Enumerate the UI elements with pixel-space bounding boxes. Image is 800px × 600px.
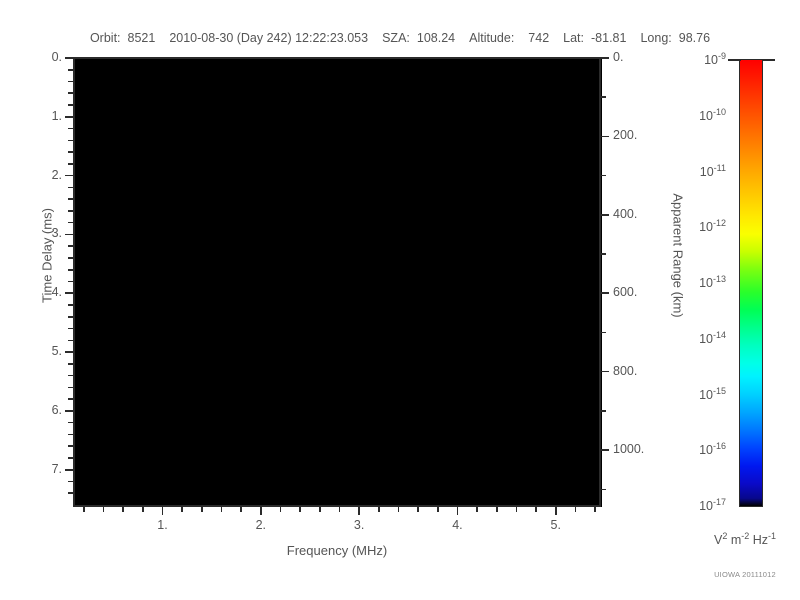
ionogram-heatmap xyxy=(75,59,601,506)
x-tick-minor xyxy=(476,507,478,512)
y-right-tick-minor xyxy=(600,489,606,491)
sza-value: 108.24 xyxy=(417,31,455,45)
datetime-value: 2010-08-30 (Day 242) 12:22:23.053 xyxy=(169,31,368,45)
y-tick-minor xyxy=(68,387,74,389)
y-right-tick-label: 400. xyxy=(613,207,663,221)
y-tick-minor xyxy=(68,434,74,436)
y-axis-right-line xyxy=(599,57,601,507)
x-tick-minor xyxy=(299,507,301,512)
y-right-tick-label: 1000. xyxy=(613,442,663,456)
y-axis-left-title: Time Delay (ms) xyxy=(40,166,55,346)
colorbar-tick-label: 10-13 xyxy=(672,274,726,290)
x-tick-major xyxy=(358,507,360,515)
y-axis-right-title: Apparent Range (km) xyxy=(671,166,686,346)
x-axis-title: Frequency (MHz) xyxy=(74,543,600,558)
y-right-tick-label: 600. xyxy=(613,285,663,299)
y-tick-minor xyxy=(68,140,74,142)
y-tick-label: 6. xyxy=(22,403,62,417)
y-tick-minor xyxy=(68,151,74,153)
y-tick-minor xyxy=(68,304,74,306)
x-tick-minor xyxy=(122,507,124,512)
y-right-tick-major xyxy=(600,292,609,294)
y-tick-minor xyxy=(68,363,74,365)
x-tick-major xyxy=(555,507,557,515)
x-tick-major xyxy=(457,507,459,515)
x-tick-minor xyxy=(437,507,439,512)
x-axis-top-line xyxy=(73,57,601,59)
y-right-tick-minor xyxy=(600,410,606,412)
unit-m: m xyxy=(727,533,741,547)
x-tick-minor xyxy=(181,507,183,512)
x-tick-minor xyxy=(103,507,105,512)
x-tick-minor xyxy=(516,507,518,512)
colorbar-tick-label: 10-9 xyxy=(672,51,726,67)
unit-hz: Hz xyxy=(749,533,768,547)
y-tick-label: 1. xyxy=(22,109,62,123)
y-tick-label: 0. xyxy=(22,50,62,64)
y-tick-minor xyxy=(68,187,74,189)
y-tick-minor xyxy=(68,69,74,71)
y-tick-minor xyxy=(68,81,74,83)
x-tick-major xyxy=(260,507,262,515)
colorbar-tick-major xyxy=(728,59,741,61)
y-tick-minor xyxy=(68,198,74,200)
colorbar-tick-label: 10-17 xyxy=(672,497,726,513)
altitude-value: 742 xyxy=(528,31,549,45)
altitude-label: Altitude: xyxy=(469,31,514,45)
y-tick-minor xyxy=(68,422,74,424)
y-tick-major xyxy=(65,292,74,294)
y-right-tick-major xyxy=(600,136,609,138)
ionogram-plot-area xyxy=(74,58,602,507)
x-tick-minor xyxy=(535,507,537,512)
figure-header: Orbit:85212010-08-30 (Day 242) 12:22:23.… xyxy=(0,31,800,45)
colorbar-unit-label: V2 m-2 Hz-1 xyxy=(690,531,800,547)
y-tick-label: 5. xyxy=(22,344,62,358)
y-right-tick-label: 800. xyxy=(613,364,663,378)
x-tick-minor xyxy=(142,507,144,512)
colorbar-tick-label: 10-14 xyxy=(672,330,726,346)
y-right-tick-major xyxy=(600,214,609,216)
ionogram-figure: Orbit:85212010-08-30 (Day 242) 12:22:23.… xyxy=(0,0,800,600)
y-right-tick-minor xyxy=(600,253,606,255)
y-tick-minor xyxy=(68,128,74,130)
figure-credit: UIOWA 20111012 xyxy=(690,570,800,579)
y-tick-minor xyxy=(68,492,74,494)
x-tick-minor xyxy=(221,507,223,512)
y-tick-minor xyxy=(68,375,74,377)
y-tick-minor xyxy=(68,92,74,94)
y-tick-minor xyxy=(68,281,74,283)
y-right-tick-minor xyxy=(600,96,606,98)
x-tick-label: 3. xyxy=(334,518,384,532)
colorbar-gradient xyxy=(740,60,762,506)
y-tick-minor xyxy=(68,222,74,224)
long-value: 98.76 xyxy=(679,31,710,45)
y-tick-major xyxy=(65,57,74,59)
x-tick-minor xyxy=(378,507,380,512)
lat-value: -81.81 xyxy=(591,31,626,45)
unit-hz-exp: -1 xyxy=(768,531,776,541)
y-right-tick-minor xyxy=(600,332,606,334)
x-tick-minor xyxy=(83,507,85,512)
x-tick-minor xyxy=(201,507,203,512)
y-tick-minor xyxy=(68,245,74,247)
orbit-value: 8521 xyxy=(128,31,156,45)
x-tick-major xyxy=(162,507,164,515)
y-tick-minor xyxy=(68,210,74,212)
x-tick-minor xyxy=(319,507,321,512)
x-tick-minor xyxy=(240,507,242,512)
y-tick-major xyxy=(65,410,74,412)
y-tick-minor xyxy=(68,163,74,165)
y-tick-major xyxy=(65,175,74,177)
y-tick-minor xyxy=(68,340,74,342)
x-axis-bottom-line xyxy=(73,505,601,507)
x-tick-label: 1. xyxy=(137,518,187,532)
sza-label: SZA: xyxy=(382,31,410,45)
x-tick-minor xyxy=(398,507,400,512)
y-tick-minor xyxy=(68,269,74,271)
y-tick-minor xyxy=(68,457,74,459)
y-tick-minor xyxy=(68,328,74,330)
x-tick-minor xyxy=(496,507,498,512)
y-tick-major xyxy=(65,234,74,236)
colorbar-tick-label: 10-11 xyxy=(672,163,726,179)
y-right-tick-minor xyxy=(600,175,606,177)
y-tick-minor xyxy=(68,398,74,400)
y-right-tick-label: 200. xyxy=(613,128,663,142)
x-tick-minor xyxy=(280,507,282,512)
colorbar-tick-label: 10-16 xyxy=(672,441,726,457)
x-tick-minor xyxy=(417,507,419,512)
lat-label: Lat: xyxy=(563,31,584,45)
x-tick-label: 5. xyxy=(531,518,581,532)
orbit-label: Orbit: xyxy=(90,31,121,45)
x-tick-minor xyxy=(339,507,341,512)
x-tick-minor xyxy=(594,507,596,512)
y-tick-major xyxy=(65,116,74,118)
x-tick-label: 2. xyxy=(236,518,286,532)
colorbar-tick-label: 10-10 xyxy=(672,107,726,123)
y-tick-minor xyxy=(68,257,74,259)
y-right-tick-major xyxy=(600,57,609,59)
y-tick-minor xyxy=(68,445,74,447)
y-right-tick-label: 0. xyxy=(613,50,663,64)
y-tick-label: 7. xyxy=(22,462,62,476)
y-tick-major xyxy=(65,351,74,353)
y-right-tick-major xyxy=(600,371,609,373)
colorbar-tick-label: 10-12 xyxy=(672,218,726,234)
x-tick-minor xyxy=(575,507,577,512)
long-label: Long: xyxy=(640,31,671,45)
y-tick-major xyxy=(65,469,74,471)
y-tick-minor xyxy=(68,316,74,318)
colorbar-tick-label: 10-15 xyxy=(672,386,726,402)
y-tick-minor xyxy=(68,481,74,483)
x-tick-label: 4. xyxy=(432,518,482,532)
y-tick-minor xyxy=(68,104,74,106)
y-right-tick-major xyxy=(600,449,609,451)
colorbar-tick-major xyxy=(762,59,775,61)
